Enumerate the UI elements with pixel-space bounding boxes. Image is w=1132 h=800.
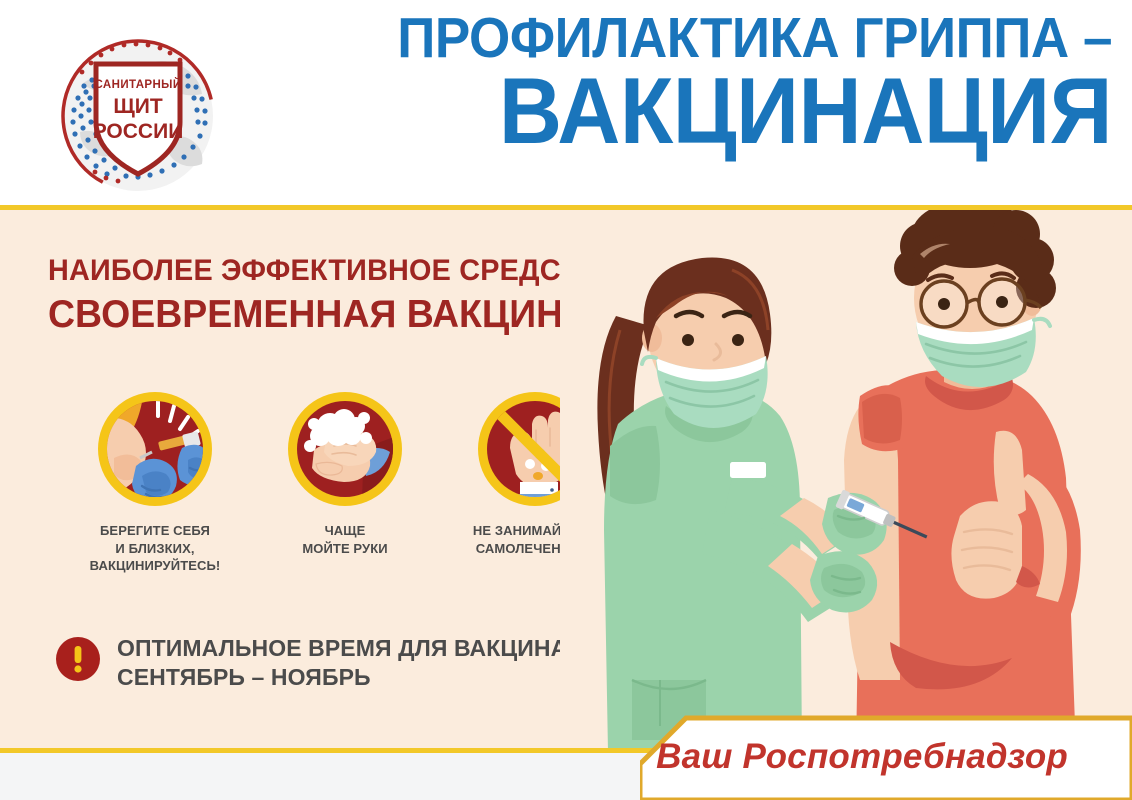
poster: САНИТАРНЫЙ ЩИТ РОССИИ ПРОФИЛАКТИКА ГРИПП…: [0, 0, 1132, 800]
headline-line-2: ВАКЦИНАЦИЯ: [331, 68, 1112, 154]
exclamation-badge-icon: [56, 637, 100, 681]
poster-header: САНИТАРНЫЙ ЩИТ РОССИИ ПРОФИЛАКТИКА ГРИПП…: [0, 0, 1132, 208]
optimal-time-note: ОПТИМАЛЬНОЕ ВРЕМЯ ДЛЯ ВАКЦИНАЦИИ – СЕНТЯ…: [56, 634, 637, 693]
advice-caption-line-2: МОЙТЕ РУКИ: [250, 540, 440, 558]
logo-line-2: ЩИТ: [113, 95, 162, 118]
logo-line-1: САНИТАРНЫЙ: [95, 78, 182, 91]
note-line-2: СЕНТЯБРЬ – НОЯБРЬ: [117, 663, 637, 692]
poster-body: НАИБОЛЕЕ ЭФФЕКТИВНОЕ СРЕДСТВО ЗАЩИТЫ ОТ …: [0, 210, 1132, 752]
advice-item-vaccinate: БЕРЕГИТЕ СЕБЯ И БЛИЗКИХ, ВАКЦИНИРУЙТЕСЬ!: [60, 390, 250, 575]
note-line-1: ОПТИМАЛЬНОЕ ВРЕМЯ ДЛЯ ВАКЦИНАЦИИ –: [117, 634, 637, 663]
advice-caption-line-3: ВАКЦИНИРУЙТЕСЬ!: [60, 557, 250, 575]
page-title: ПРОФИЛАКТИКА ГРИППА – ВАКЦИНАЦИЯ: [272, 12, 1112, 155]
advice-list: БЕРЕГИТЕ СЕБЯ И БЛИЗКИХ, ВАКЦИНИРУЙТЕСЬ!: [60, 390, 640, 575]
advice-caption-line-1: ЧАЩЕ: [250, 522, 440, 540]
headline-line-1: ПРОФИЛАКТИКА ГРИППА –: [331, 12, 1112, 64]
note-text: ОПТИМАЛЬНОЕ ВРЕМЯ ДЛЯ ВАКЦИНАЦИИ – СЕНТЯ…: [117, 634, 637, 693]
logo-line-3: РОССИИ: [93, 120, 184, 143]
vaccination-illustration: [560, 210, 1132, 752]
advice-caption-line-1: БЕРЕГИТЕ СЕБЯ: [60, 522, 250, 540]
handwashing-icon: [286, 390, 404, 508]
advice-caption: БЕРЕГИТЕ СЕБЯ И БЛИЗКИХ, ВАКЦИНИРУЙТЕСЬ!: [60, 522, 250, 575]
advice-caption-line-2: И БЛИЗКИХ,: [60, 540, 250, 558]
advice-item-wash-hands: ЧАЩЕ МОЙТЕ РУКИ: [250, 390, 440, 575]
footer-banner: Ваш Роспотребнадзор: [640, 714, 1132, 800]
footer-text: Ваш Роспотребнадзор: [640, 714, 1102, 800]
vaccination-injection-icon: [96, 390, 214, 508]
advice-caption: ЧАЩЕ МОЙТЕ РУКИ: [250, 522, 440, 557]
sanitary-shield-of-russia-emblem: САНИТАРНЫЙ ЩИТ РОССИИ: [48, 26, 228, 206]
